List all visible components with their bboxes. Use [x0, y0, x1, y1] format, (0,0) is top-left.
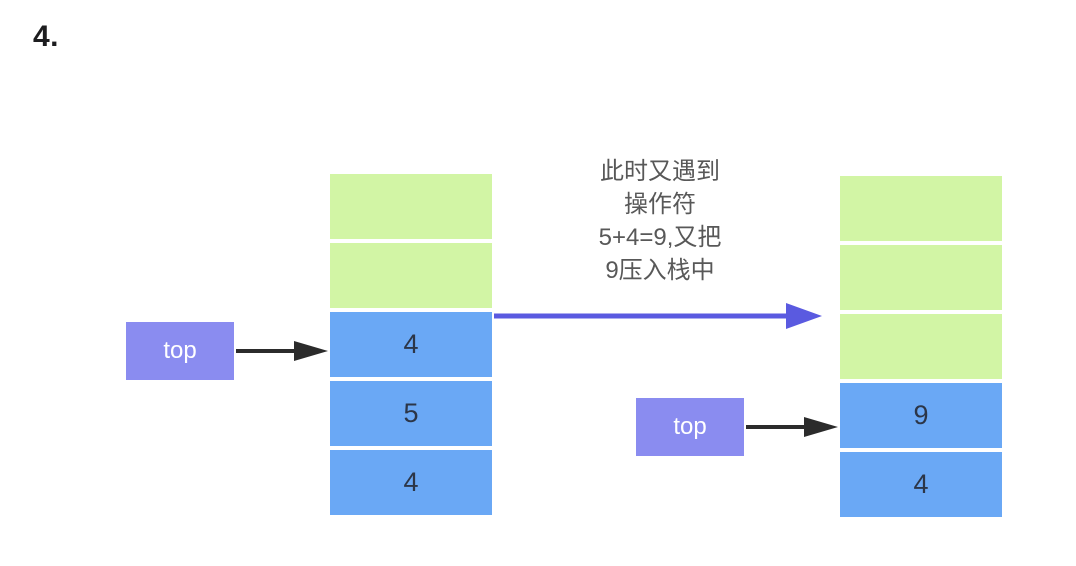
stack-cell: 4 — [330, 312, 492, 377]
stack-cell — [330, 174, 492, 239]
diagram-canvas: 4. 4 5 4 9 4 top top 此时又遇到 操作符 5+4=9,又把 … — [0, 0, 1076, 566]
arrow-right-icon — [746, 415, 844, 439]
top-pointer-label-left: top — [126, 322, 234, 380]
stack-cell — [840, 314, 1002, 379]
stack-cell: 9 — [840, 383, 1002, 448]
stack-cell — [840, 176, 1002, 241]
before-stack: 4 5 4 — [330, 174, 492, 515]
stack-cell: 5 — [330, 381, 492, 446]
stack-cell — [840, 245, 1002, 310]
top-pointer-label-right: top — [636, 398, 744, 456]
stack-cell: 4 — [330, 450, 492, 515]
stack-cell — [330, 243, 492, 308]
long-arrow-right-icon — [490, 300, 826, 332]
annotation-text: 此时又遇到 操作符 5+4=9,又把 9压入栈中 — [516, 155, 804, 287]
after-stack: 9 4 — [840, 176, 1002, 517]
arrow-right-icon — [236, 339, 334, 363]
stack-cell: 4 — [840, 452, 1002, 517]
step-number-label: 4. — [33, 22, 59, 52]
